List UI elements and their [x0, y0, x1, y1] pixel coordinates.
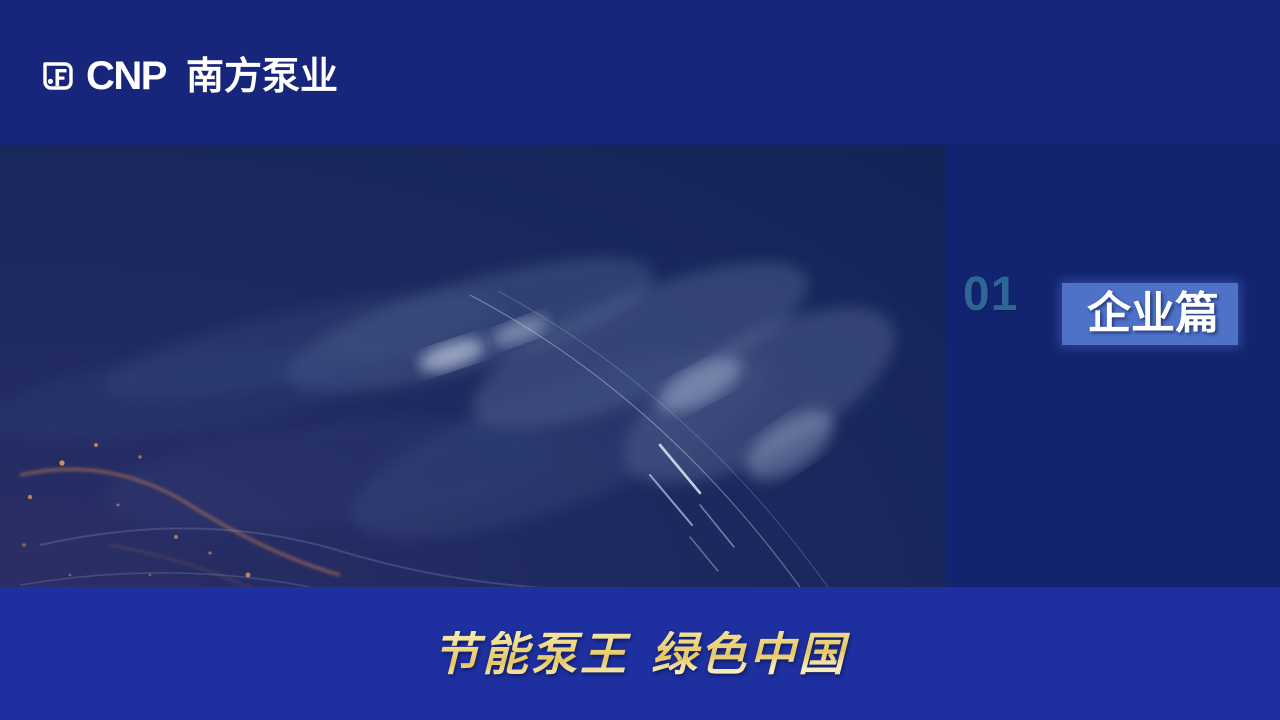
- section-number: 01: [963, 271, 1018, 319]
- slogan-part-1: 节能泵王: [433, 627, 629, 681]
- cnp-monogram-icon: [40, 58, 76, 94]
- presentation-slide: CNP 南方泵业: [0, 0, 1280, 720]
- company-slogan: 节能泵王绿色中国: [0, 631, 1280, 677]
- brand-logo[interactable]: CNP 南方泵业: [40, 52, 338, 100]
- slogan-part-2: 绿色中国: [651, 627, 847, 681]
- slide-header: CNP 南方泵业: [0, 0, 1280, 143]
- section-title: 企业篇: [1068, 285, 1238, 343]
- earth-from-space-photo: [0, 145, 945, 587]
- brand-chinese-name: 南方泵业: [186, 57, 338, 95]
- slide-footer: 节能泵王绿色中国: [0, 587, 1280, 720]
- brand-latin-name: CNP: [86, 56, 166, 96]
- section-caption: 01 企业篇: [945, 145, 1280, 587]
